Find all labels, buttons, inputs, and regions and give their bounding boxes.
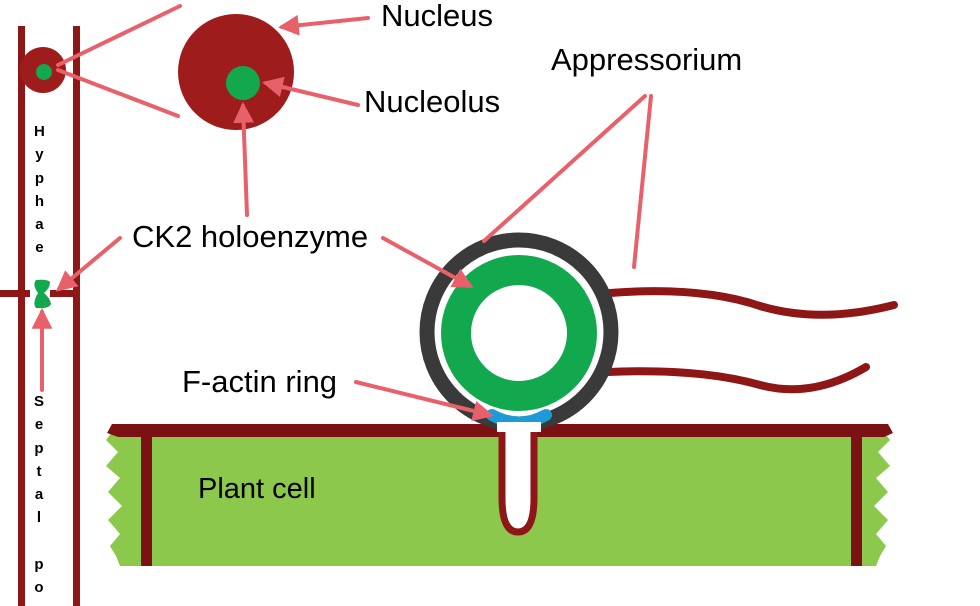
germ-tube-hypha — [608, 291, 894, 389]
leader-ck2-to-septal-pore — [59, 238, 120, 289]
septal-pore-letter: p — [34, 437, 43, 460]
leader-appressorium-left — [484, 96, 645, 241]
septal-pore-letter: p — [34, 553, 43, 576]
f-actin-ring — [492, 415, 546, 423]
figure-canvas: Nucleus Nucleolus Appressorium CK2 holoe… — [0, 0, 980, 606]
septal-pore-letter: t — [37, 460, 42, 483]
hypha-wall-right — [73, 26, 80, 606]
septal-pore-letter: r — [36, 599, 42, 606]
nucleolus-body — [226, 66, 260, 100]
hypha-septum-left — [0, 290, 30, 297]
penetration-peg-shape — [502, 424, 534, 532]
septal-pore-letter: S — [34, 390, 44, 413]
appressorium — [427, 240, 611, 432]
septal-pore-letter: e — [35, 413, 43, 436]
hypha-wall-left — [18, 26, 25, 606]
label-nucleolus: Nucleolus — [364, 86, 500, 117]
septal-pore-letter: o — [34, 576, 43, 599]
label-nucleus: Nucleus — [381, 0, 493, 31]
penetration-peg — [502, 418, 534, 532]
label-hyphae-vertical: H y p h a e — [34, 120, 45, 260]
hypha-septum-right — [50, 290, 80, 297]
label-appressorium: Appressorium — [551, 44, 742, 75]
leader-appressorium-right — [634, 96, 651, 267]
label-ck2-holoenzyme: CK2 holoenzyme — [132, 221, 368, 252]
ck2-holoenzyme-ring — [456, 270, 582, 396]
septal-pore-letter-space — [37, 530, 41, 553]
septal-pore-plug — [34, 280, 51, 308]
leader-lines — [42, 18, 651, 415]
plant-cell-wall-right — [851, 432, 862, 566]
germ-tube-upper-line — [610, 291, 894, 315]
magnified-nucleus — [178, 14, 294, 130]
germ-tube-lower-line — [608, 367, 866, 389]
leader-nucleus — [282, 18, 368, 27]
label-f-actin-ring: F-actin ring — [182, 366, 337, 397]
hyphae-letter: a — [35, 213, 43, 236]
plant-cell-wall-left — [141, 432, 152, 566]
hyphae-letter: H — [34, 120, 45, 143]
small-nucleolus — [36, 64, 52, 80]
label-plant-cell: Plant cell — [198, 475, 316, 504]
hyphae-letter: h — [35, 190, 44, 213]
label-septal-pore-vertical: S e p t a l p o r e — [34, 390, 44, 606]
appressorium-base-mask — [497, 422, 541, 432]
hyphae-letter: p — [35, 167, 44, 190]
hyphae-letter: e — [35, 236, 43, 259]
septal-pore-letter: a — [35, 483, 43, 506]
septal-pore-letter: l — [37, 506, 41, 529]
hyphae-letter: y — [35, 143, 43, 166]
